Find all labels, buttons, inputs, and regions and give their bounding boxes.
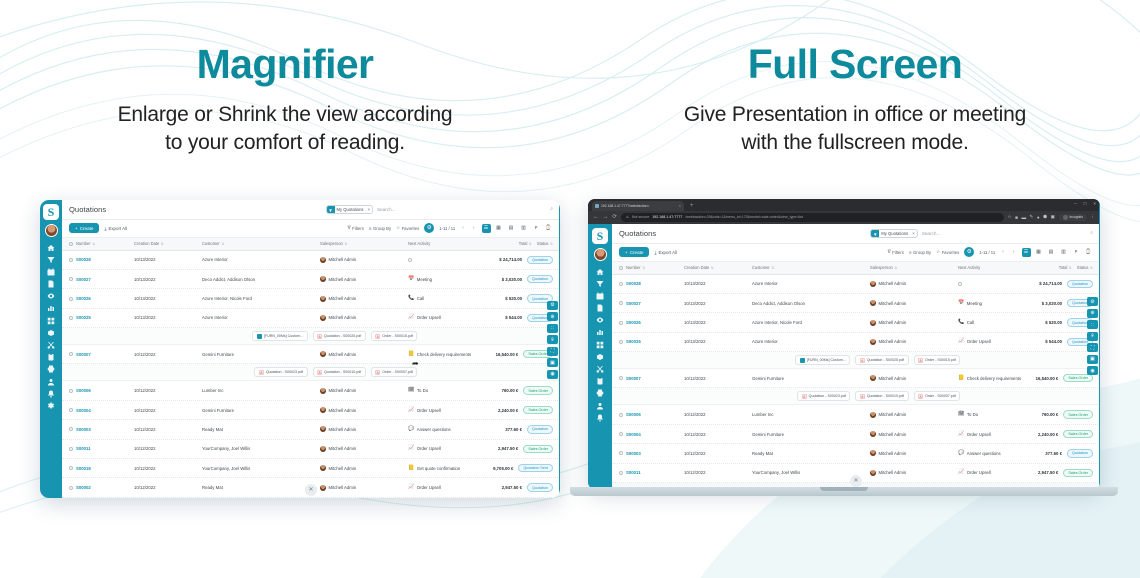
close-icon[interactable]: × [679,203,681,208]
group-by-button[interactable]: ≡ Group By [909,250,931,255]
kanban-view-button[interactable]: ▦ [494,224,503,233]
row-checkbox[interactable] [69,447,73,451]
avatar[interactable] [594,248,607,261]
list-icon: ≡ [369,226,372,231]
table-row[interactable]: S00026 10/13/2022 Azure Interior, Nicole… [62,289,560,308]
activity-label: Order Upsell [417,485,441,490]
cell-total: 2,947.50 € [498,446,518,451]
avatar[interactable] [45,224,58,237]
box-icon[interactable] [596,353,604,361]
control-panel: + Create ⤓ Export All ∇ Filters [612,244,1100,262]
column-header-status[interactable]: Status ⇅ [1077,265,1093,270]
fullscreen-tool-button[interactable]: ⛶ [1087,343,1098,352]
create-button-label: Create [80,226,94,231]
pdf-file-icon: A [375,370,380,375]
camera-tool-button[interactable]: ◉ [1087,366,1098,375]
search-input[interactable]: Search... [922,231,1086,236]
table-row[interactable]: S00006 10/12/2022 Lumber Inc Mitchell Ad… [62,381,560,400]
column-header-salesperson[interactable]: Salesperson ⇅ [870,265,958,270]
graph-view-button[interactable]: ᴩ [1072,248,1081,257]
table-row[interactable]: S00004 10/12/2022 Gemini Furniture Mitch… [612,425,1100,444]
extension-icon[interactable]: ▣ [1051,214,1055,220]
box-icon[interactable] [47,329,55,337]
row-checkbox[interactable] [69,352,73,356]
minimize-icon[interactable]: – [1074,201,1077,206]
table-row[interactable]: S00027 10/13/2022 Deco Addict, Addison O… [62,270,560,289]
calendar-icon[interactable] [596,292,604,300]
search-facet-my-quotations[interactable]: ▼ My Quotations × [326,205,374,214]
calendar-view-button[interactable]: ▤ [1047,248,1056,257]
control-panel-right: ∇ Filters ≡ Group By ☆ Favorites ⚙ 1-11 … [348,223,553,233]
zoom-in-tool-button[interactable]: ⊕ [547,312,558,321]
row-checkbox[interactable] [619,376,623,380]
filter-icon[interactable] [47,256,55,264]
salesperson-label: Mitchell Admin [879,320,907,325]
cell-activity[interactable]: 📅 Meeting [958,301,1042,306]
floating-toolbar[interactable]: ⚙ ⊕ ∷ ⌾ ⛶ ▣ ◉ [1087,297,1098,375]
cell-number[interactable]: S00003 [626,451,684,456]
mouse-cursor-icon: ➦ [412,359,419,368]
cell-activity[interactable]: 📒 Check delivery requirements [958,376,1036,381]
zoom-in-tool-button[interactable]: ⊕ [1087,309,1098,318]
avatar [870,431,876,437]
table-row[interactable]: S00027 10/13/2022 Deco Addict, Addison O… [612,294,1100,313]
profile-button[interactable]: Incognito [1059,214,1087,221]
cell-activity[interactable]: 📒 Check delivery requirements [408,352,496,357]
pager-next-button[interactable]: › [471,225,477,231]
not-secure-icon: ⚠ [626,215,629,219]
user-icon[interactable] [596,402,604,410]
cell-activity[interactable]: 📈 Order Upsell [958,339,1045,344]
close-icon[interactable]: × [912,231,917,236]
pager-prev-button[interactable]: ‹ [1000,249,1006,255]
forward-icon[interactable]: → [603,214,609,220]
url-host: 192.168.1.47:7777 [652,215,682,219]
table-row[interactable]: S00003 10/12/2022 Ready Mat Mitchell Adm… [612,444,1100,463]
magnifier-toggle-button[interactable]: ⚙ [964,247,974,257]
activity-label: Order Upsell [417,408,441,413]
favorites-label: Favorites [942,250,960,255]
grid-icon[interactable] [47,317,55,325]
status-badge: Quotation [527,275,553,283]
attachment-chip[interactable]: A Quotation - S00025.pdf [313,331,366,341]
cell-number[interactable]: S00011 [626,470,684,475]
table-row[interactable]: S00028 10/13/2022 Azure Interior Mitchel… [62,251,560,270]
select-all-checkbox[interactable] [69,242,73,246]
magnifier-tool-button[interactable]: ⌾ [1087,332,1098,341]
cell-activity[interactable]: 📈 Order Upsell [408,485,502,490]
cell-number[interactable]: S00003 [76,427,134,432]
column-header-status[interactable]: Status ⇅ [537,241,553,246]
cell-customer: Gemini Furniture [752,376,870,381]
home-icon[interactable] [596,268,604,276]
cell-activity[interactable]: 📈 Order Upsell [408,315,505,320]
home-icon[interactable] [47,244,55,252]
row-checkbox[interactable] [619,471,623,475]
sort-icon: ⇅ [1069,266,1072,270]
table-row[interactable]: S00026 10/13/2022 Azure Interior, Nicole… [612,313,1100,332]
table-body: S00028 10/13/2022 Azure Interior Mitchel… [612,275,1100,489]
cell-customer: Lumber Inc [752,412,870,417]
page-title: Quotations [619,229,656,238]
graph-view-button[interactable]: ᴩ [532,224,541,233]
table-row[interactable]: S00004 10/12/2022 Gemini Furniture Mitch… [62,401,560,420]
cell-activity[interactable]: 💬 Answer questions [408,427,505,432]
cell-activity[interactable]: 📈 Order Upsell [408,446,498,451]
profile-label: Incognito [1070,215,1083,219]
column-header-creation-date[interactable]: Creation Date ⇅ [684,265,752,270]
maximize-icon[interactable]: □ [1084,201,1087,206]
plus-icon: + [75,226,78,231]
filter-icon[interactable] [596,280,604,288]
table-row[interactable]: S00007 10/12/2022 Gemini Furniture Mitch… [612,369,1100,388]
activity-label: Get quote confirmation [417,466,460,471]
cell-salesperson: Mitchell Admin [320,257,408,263]
attachment-chip[interactable]: [FURN_00Ms] Custom... [795,355,850,365]
note-icon: 📒 [408,466,414,471]
cell-activity[interactable]: 📒 Get quote confirmation [408,466,493,471]
close-icon[interactable]: × [1093,201,1096,206]
activity-label: Call [417,296,424,301]
search-area[interactable]: ▼ My Quotations × Search... ⌕ [870,229,1093,238]
extension-icon[interactable]: ✎ [1030,214,1034,220]
table-row[interactable]: S00028 10/13/2022 Azure Interior Mitchel… [612,275,1100,294]
document-icon[interactable] [47,280,55,288]
magnifier-tool-button[interactable]: ⌾ [547,335,558,344]
extension-icon[interactable]: ⬟ [1043,214,1047,220]
cell-number[interactable]: S00007 [626,376,684,381]
cell-activity[interactable]: 📞 Call [958,320,1045,325]
activity-label: Order Upsell [967,339,991,344]
avatar [320,465,326,471]
export-all-button[interactable]: ⤓ Export All [104,226,127,231]
cell-date: 10/13/2022 [684,281,752,286]
row-checkbox[interactable] [69,408,73,412]
extension-icon[interactable]: ■ [1015,215,1018,220]
salesperson-label: Mitchell Admin [879,281,907,286]
image-file-icon [800,358,805,363]
row-checkbox[interactable] [69,427,73,431]
cell-customer: Deco Addict, Addison Olson [752,301,870,306]
column-header-customer[interactable]: Customer ⇅ [202,241,320,246]
salesperson-label: Mitchell Admin [879,451,907,456]
column-header-total[interactable]: Total ⇅ [1059,265,1072,270]
list-view-button[interactable]: ☰ [482,224,491,233]
cell-number[interactable]: S00006 [626,412,684,417]
row-checkbox[interactable] [619,451,623,455]
scissors-icon[interactable] [596,365,604,373]
star-icon[interactable]: ☆ [1008,214,1012,220]
avatar [320,351,326,357]
cell-date: 10/13/2022 [684,301,752,306]
clipboard-icon[interactable] [596,377,604,385]
cell-total: 760.00 € [502,388,519,393]
salesperson-label: Mitchell Admin [879,470,907,475]
cell-number[interactable]: S00018 [76,466,134,471]
grid-tool-button[interactable]: ∷ [1087,320,1098,329]
salesperson-label: Mitchell Admin [879,301,907,306]
address-bar[interactable]: ⚠ Not secure 192.168.1.47:7777 /web#acti… [621,213,1004,222]
table-row[interactable]: S00006 10/12/2022 Lumber Inc Mitchell Ad… [612,405,1100,424]
row-checkbox[interactable] [619,301,623,305]
column-label: Number [626,265,641,270]
cell-number[interactable]: S00007 [76,352,134,357]
settings-tool-button[interactable]: ⚙ [1087,297,1098,306]
favorites-button[interactable]: ☆ Favorites [396,225,419,231]
table-row[interactable]: S00011 10/12/2022 YourCompany, Joel Will… [62,440,560,459]
row-checkbox[interactable] [69,466,73,470]
settings-tool-button[interactable]: ⚙ [547,301,558,310]
eye-icon[interactable] [47,292,55,300]
pdf-file-icon: A [918,394,923,399]
sidebar-icon-list[interactable] [596,268,604,422]
create-button-label: Create [630,250,644,255]
row-checkbox[interactable] [69,297,73,301]
floating-toolbar[interactable]: ⚙ ⊕ ∷ ⌾ ⛶ ▣ ◉ [547,301,558,379]
right-accent-bar [559,200,561,498]
attachment-chip[interactable]: A Order - S00007.pdf [371,367,418,377]
attachment-chip[interactable]: A Order - S00007.pdf [914,391,961,401]
row-checkbox[interactable] [69,277,73,281]
salesperson-label: Mitchell Admin [879,412,907,417]
table-row[interactable]: S00025 10/13/2022 Azure Interior Mitchel… [62,309,560,328]
cell-salesperson: Mitchell Admin [870,450,958,456]
column-header-customer[interactable]: Customer ⇅ [752,265,870,270]
user-icon[interactable] [47,378,55,386]
pdf-file-icon: A [860,394,865,399]
reload-icon[interactable]: ⟳ [612,214,617,220]
cell-activity[interactable]: 📅 Meeting [408,277,502,282]
cell-date: 10/13/2022 [134,257,202,262]
salesperson-label: Mitchell Admin [329,296,357,301]
browser-tab[interactable]: 192.168.1.47:7777/web#action= × [592,201,684,211]
cell-number[interactable]: S00025 [626,339,684,344]
create-button[interactable]: + Create [69,223,99,233]
status-badge: Sales Order [523,445,553,453]
row-checkbox[interactable] [619,282,623,286]
cell-number[interactable]: S00026 [76,296,134,301]
attachment-chip[interactable]: [FURN_00Ms] Custom... [252,331,307,341]
column-header-creation-date[interactable]: Creation Date ⇅ [134,241,202,246]
clipboard-icon[interactable] [47,353,55,361]
salesperson-label: Mitchell Admin [329,408,357,413]
cell-date: 10/13/2022 [134,315,202,320]
bell-icon[interactable] [47,390,55,398]
app-sidebar-left[interactable]: S [40,200,62,498]
cell-number[interactable]: S00002 [76,485,134,490]
row-checkbox[interactable] [619,413,623,417]
printer-icon[interactable] [596,389,604,397]
plus-icon: + [625,250,628,255]
sidebar-icon-list[interactable] [47,244,55,410]
select-all-checkbox[interactable] [619,266,623,270]
cell-activity[interactable]: 📈 Order Upsell [958,432,1038,437]
column-header-number[interactable]: Number ⇅ [626,265,684,270]
attachment-chip[interactable]: A Order - S00015.pdf [914,355,961,365]
column-header-number[interactable]: Number ⇅ [76,241,134,246]
close-icon[interactable]: × [368,207,373,212]
column-header-salesperson[interactable]: Salesperson ⇅ [320,241,408,246]
table-row[interactable]: S00007 10/12/2022 Gemini Furniture Mitch… [62,345,560,364]
extension-icon[interactable]: ▬ [1021,215,1026,220]
cell-activity[interactable]: 📞 Call [408,296,505,301]
download-icon: ⤓ [654,250,656,255]
monitor-tool-button[interactable]: ▣ [1087,355,1098,364]
table-row[interactable]: S00025 10/13/2022 Azure Interior Mitchel… [612,333,1100,352]
grid-tool-button[interactable]: ∷ [547,324,558,333]
cell-number[interactable]: S00006 [76,388,134,393]
table-row[interactable]: S00003 10/12/2022 Ready Mat Mitchell Adm… [62,420,560,439]
activity-view-button[interactable]: ⌚ [544,224,553,233]
eye-icon[interactable] [596,316,604,324]
cell-salesperson: Mitchell Admin [320,465,408,471]
sort-icon: ⇅ [344,242,347,246]
scissors-icon[interactable] [47,341,55,349]
printer-icon[interactable] [47,365,55,373]
cell-number[interactable]: S00027 [76,277,134,282]
cell-number[interactable]: S00011 [76,446,134,451]
cell-number[interactable]: S00004 [76,408,134,413]
cell-customer: Gemini Furniture [202,352,320,357]
table-row[interactable]: S00018 10/12/2022 YourCompany, Joel Will… [62,459,560,478]
new-tab-button[interactable]: + [687,201,697,211]
activity-label: Order Upsell [967,470,991,475]
favorites-button[interactable]: ☆ Favorites [936,249,959,255]
cell-total: $ 544.00 [1045,339,1062,344]
cell-customer: Azure Interior [202,315,320,320]
attachment-chip[interactable]: A Quotation - S00010.pdf [313,367,366,377]
browser-menu-icon[interactable]: ⋮ [1090,214,1095,220]
salesperson-label: Mitchell Admin [329,388,357,393]
avatar [320,296,326,302]
filters-button[interactable]: ∇ Filters [348,225,364,231]
avatar [320,257,326,263]
cell-number[interactable]: S00025 [76,315,134,320]
create-button[interactable]: + Create [619,247,649,257]
magnifier-toggle-button[interactable]: ⚙ [424,223,434,233]
activity-label: Answer questions [967,451,1001,456]
monitor-tool-button[interactable]: ▣ [547,358,558,367]
attachment-label: Order - S00007.pdf [382,370,413,374]
column-header-next-activity[interactable]: Next Activity [408,241,519,246]
pivot-view-button[interactable]: ▥ [1059,248,1068,257]
cell-salesperson: Mitchell Admin [870,412,958,418]
pivot-view-button[interactable]: ▥ [519,224,528,233]
attachment-chip[interactable]: A Quotation - S00023.pdf [254,367,307,377]
cell-activity[interactable]: 📈 Order Upsell [408,408,498,413]
attachment-label: Quotation - S00010.pdf [867,394,904,398]
row-checkbox[interactable] [69,486,73,490]
avatar [870,339,876,345]
list-view-button[interactable]: ☰ [1022,248,1031,257]
row-checkbox[interactable] [619,432,623,436]
row-checkbox[interactable] [69,316,73,320]
column-header-next-activity[interactable]: Next Activity [958,265,1059,270]
search-input[interactable]: Search... [377,207,546,212]
close-floating-button[interactable]: ✕ [850,475,862,487]
activity-label: Answer questions [417,427,451,432]
search-icon[interactable]: ⌕ [550,206,553,212]
cell-activity[interactable] [958,282,1039,286]
filters-button[interactable]: ∇ Filters [888,249,904,255]
grid-icon[interactable] [596,341,604,349]
laptop-notch [820,487,868,491]
view-switcher: ☰ ▦ ▤ ▥ ᴩ ⌚ [1022,248,1094,257]
cell-activity[interactable]: 💬 Answer questions [958,451,1045,456]
attachment-chip[interactable]: A Order - S00015.pdf [371,331,418,341]
column-header-total[interactable]: Total ⇅ [519,241,532,246]
cell-total: $ 544.00 [505,315,522,320]
attachment-chip[interactable]: A Quotation - S00010.pdf [855,391,908,401]
cell-number[interactable]: S00027 [626,301,684,306]
attachment-chip[interactable]: A Quotation - S00025.pdf [855,355,908,365]
extension-icon[interactable]: ● [1037,215,1040,220]
cell-salesperson: Mitchell Admin [320,407,408,413]
cell-number[interactable]: S00028 [626,281,684,286]
pdf-file-icon: A [317,370,322,375]
cell-date: 10/12/2022 [134,352,202,357]
app-logo: S [592,228,608,244]
cell-activity[interactable] [408,258,499,262]
back-icon[interactable]: ← [593,214,599,220]
row-checkbox[interactable] [619,321,623,325]
app-sidebar-right[interactable]: S [588,224,612,489]
cell-number[interactable]: S00004 [626,432,684,437]
chart-icon[interactable] [596,328,604,336]
export-all-button[interactable]: ⤓ Export All [654,250,677,255]
cell-customer: Deco Addict, Addison Olson [202,277,320,282]
cell-salesperson: Mitchell Admin [320,315,408,321]
filter-facet-icon: ▼ [327,206,335,213]
camera-tool-button[interactable]: ◉ [547,370,558,379]
search-facet-my-quotations[interactable]: ▼ My Quotations × [870,229,918,238]
attachment-label: Quotation - S00025.pdf [324,334,361,338]
pager-next-button[interactable]: › [1011,249,1017,255]
search-area[interactable]: ▼ My Quotations × Search... ⌕ [326,205,553,214]
document-icon[interactable] [596,304,604,312]
fullscreen-tool-button[interactable]: ⛶ [547,347,558,356]
row-checkbox[interactable] [619,340,623,344]
cell-number[interactable]: S00026 [626,320,684,325]
app-main-left: Quotations ▼ My Quotations × Search... ⌕ [62,200,560,498]
cell-activity[interactable]: 🗓 To Do [958,412,1042,417]
attachment-label: Quotation - S00023.pdf [266,370,303,374]
attachment-chip[interactable]: A Quotation - S00023.pdf [797,391,850,401]
close-floating-button[interactable]: ✕ [305,484,317,496]
activity-view-button[interactable]: ⌚ [1084,248,1093,257]
cell-activity[interactable]: 🗓 To Do [408,388,502,393]
pdf-file-icon: A [918,358,923,363]
bell-icon[interactable] [596,414,604,422]
group-by-button[interactable]: ≡ Group By [369,226,391,231]
list-icon: ≡ [909,250,912,255]
calendar-icon[interactable] [47,268,55,276]
pager-prev-button[interactable]: ‹ [460,225,466,231]
sort-icon: ⇅ [550,242,553,246]
export-all-label: Export All [658,250,677,255]
calendar-view-button[interactable]: ▤ [507,224,516,233]
browser-actions: ☆ ■ ▬ ✎ ● ⬟ ▣ Incognito ⋮ [1008,214,1095,221]
kanban-view-button[interactable]: ▦ [1034,248,1043,257]
cell-number[interactable]: S00028 [76,257,134,262]
row-checkbox[interactable] [69,258,73,262]
row-checkbox[interactable] [69,389,73,393]
chart-icon[interactable] [47,304,55,312]
gear-icon[interactable] [47,402,55,410]
feature-subtitle-fullscreen: Give Presentation in office or meeting w… [570,101,1140,156]
search-icon[interactable]: ⌕ [1090,230,1093,236]
cell-activity[interactable]: 📈 Order Upsell [958,470,1038,475]
